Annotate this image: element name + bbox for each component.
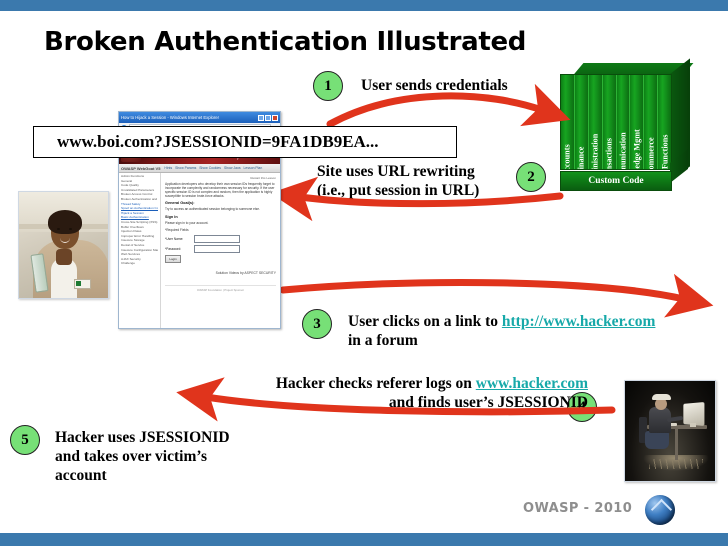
- hacker-url-link[interactable]: http://www.hacker.com: [502, 313, 656, 330]
- minimize-icon[interactable]: [258, 115, 264, 121]
- bottom-accent-bar: [0, 533, 728, 546]
- step-3-prefix: User clicks on a link to: [348, 313, 502, 330]
- aspect-security-credit: Solution Videos by ASPECT SECURITY: [165, 271, 276, 275]
- sidebar-item[interactable]: Web Services: [121, 253, 158, 257]
- user-photo-name-badge: [74, 279, 91, 289]
- url-callout-box: www.boi.com?JSESSIONID=9FA1DB9EA...: [33, 126, 457, 158]
- page-title: Broken Authentication Illustrated: [44, 27, 526, 57]
- username-label: *User Name:: [165, 237, 191, 241]
- signin-form[interactable]: Sign In Please sign in to your account. …: [165, 215, 276, 263]
- badge-logo-icon: [76, 281, 81, 286]
- step-1-text: User sends credentials: [361, 76, 508, 95]
- custom-code-bar: Custom Code: [560, 171, 672, 191]
- sidebar-item-hijack-session[interactable]: Hijack a Session: [121, 212, 158, 216]
- business-function-label: Transactions: [605, 138, 614, 169]
- slide-canvas: Broken Authentication Illustrated Accoun…: [0, 0, 728, 546]
- step-marker-5: 5: [10, 425, 40, 455]
- webgoat-nav-tabs[interactable]: Hints Show Params Show Cookies Show Java…: [164, 166, 262, 170]
- sidebar-item[interactable]: Challenge: [121, 262, 158, 266]
- hacker-photo-person-legs: [645, 431, 669, 449]
- business-function-column: Finance: [575, 75, 589, 169]
- step-3-line-2: in a forum: [348, 331, 678, 350]
- browser-window-title: How to Hijack a Session - Windows Intern…: [121, 115, 219, 120]
- window-controls[interactable]: [258, 115, 278, 121]
- business-function-column: Transactions: [603, 75, 617, 169]
- arrow-step-3: [283, 283, 684, 299]
- step-5-line-2: and takes over victim’s: [55, 447, 265, 466]
- step-marker-3: 3: [302, 309, 332, 339]
- tab-lesson-plan[interactable]: Lesson Plan: [244, 166, 263, 170]
- business-function-column: E-Commerce: [644, 75, 658, 169]
- login-button[interactable]: Login: [165, 255, 181, 263]
- business-function-label: Bus. Functions: [660, 135, 669, 169]
- hacker-domain-link[interactable]: www.hacker.com: [476, 375, 588, 392]
- hacker-photo-monitor-stand: [690, 423, 696, 427]
- business-function-column: Administration: [589, 75, 603, 169]
- hacker-photo-person-hat: [652, 394, 671, 400]
- business-function-label: Finance: [577, 147, 586, 169]
- sidebar-item[interactable]: Unvalidated Parameters: [121, 189, 158, 193]
- sidebar-item[interactable]: Denial of Service: [121, 244, 158, 248]
- user-photo-neck: [56, 249, 72, 265]
- custom-code-block: Accounts Finance Administration Transact…: [556, 63, 692, 193]
- sidebar-item[interactable]: Injection Flaws: [121, 230, 158, 234]
- tab-show-params[interactable]: Show Params: [175, 166, 196, 170]
- sidebar-item[interactable]: Insecure Storage: [121, 239, 158, 243]
- business-function-column: Bus. Functions: [658, 75, 671, 169]
- sidebar-item[interactable]: Buffer Overflows: [121, 226, 158, 230]
- owasp-footer-text: OWASP - 2010: [523, 501, 632, 516]
- hacker-photo-desk-leg: [675, 428, 678, 460]
- sidebar-item-spoof-cookie[interactable]: Spoof an Authentication Cookie: [121, 207, 158, 211]
- required-fields-note: *Required Fields: [165, 228, 276, 232]
- page-footer-note: OWASP Foundation | Project Sponsor: [165, 285, 276, 292]
- tab-show-cookies[interactable]: Show Cookies: [199, 166, 221, 170]
- restart-lesson-link[interactable]: Restart this Lesson: [165, 176, 276, 180]
- business-function-label: Administration: [591, 134, 600, 169]
- general-goal-heading: General Goal(s):: [165, 201, 276, 205]
- step-4-text: Hacker checks referer logs on www.hacker…: [228, 374, 588, 412]
- webgoat-logo: OWASP WebGoat V5: [121, 166, 160, 171]
- sidebar-item[interactable]: Admin Functions: [121, 175, 158, 179]
- user-photo: [18, 191, 109, 299]
- sidebar-item[interactable]: Code Quality: [121, 184, 158, 188]
- user-photo-eye-right: [69, 228, 72, 230]
- step-2-line-1: Site uses URL rewriting: [317, 162, 527, 181]
- sidebar-item[interactable]: General: [121, 180, 158, 184]
- sidebar-item-basic-auth[interactable]: Basic Authentication: [121, 216, 158, 220]
- sidebar-item[interactable]: AJAX Security: [121, 258, 158, 262]
- maximize-icon[interactable]: [265, 115, 271, 121]
- custom-code-block-front-face: Accounts Finance Administration Transact…: [560, 74, 672, 170]
- signin-note: Please sign in to your account.: [165, 221, 276, 225]
- sidebar-item[interactable]: Improper Error Handling: [121, 235, 158, 239]
- step-marker-1: 1: [313, 71, 343, 101]
- business-function-column: Accounts: [561, 75, 575, 169]
- business-function-label: E-Commerce: [646, 137, 655, 169]
- webgoat-navbar[interactable]: OWASP WebGoat V5 Hints Show Params Show …: [119, 164, 280, 173]
- browser-content: Admin Functions General Code Quality Unv…: [119, 173, 280, 329]
- lesson-body: Restart this Lesson Application develope…: [161, 173, 280, 329]
- lesson-sidebar[interactable]: Admin Functions General Code Quality Unv…: [119, 173, 161, 329]
- step-2-text: Site uses URL rewriting (i.e., put sessi…: [317, 162, 527, 200]
- step-4-line-2: and finds user’s JSESSIONID: [228, 393, 588, 412]
- sidebar-item[interactable]: Cross-Site Scripting (XSS): [121, 221, 158, 225]
- user-photo-eye-left: [57, 228, 60, 230]
- signin-heading: Sign In: [165, 215, 276, 219]
- owasp-globe-logo-icon: [645, 495, 675, 525]
- tab-show-java[interactable]: Show Java: [224, 166, 241, 170]
- business-function-label: Communication: [618, 132, 627, 169]
- arrow-step-1: [330, 96, 542, 124]
- sidebar-item[interactable]: Insecure Configuration Management: [121, 249, 158, 253]
- general-goal-text: Try to access an authenticated session b…: [165, 207, 276, 211]
- business-function-column: Communication: [617, 75, 631, 169]
- business-function-label: Accounts: [563, 144, 572, 169]
- sidebar-item[interactable]: Broken Authentication and Session Manage…: [121, 198, 158, 202]
- step-3-line-1: User clicks on a link to http://www.hack…: [348, 312, 678, 331]
- username-input[interactable]: [194, 235, 240, 243]
- lesson-paragraph: Application developers who develop their…: [165, 182, 276, 198]
- password-label: *Password:: [165, 247, 191, 251]
- step-3-text: User clicks on a link to http://www.hack…: [348, 312, 678, 350]
- step-4-prefix: Hacker checks referer logs on: [276, 375, 476, 392]
- username-row: *User Name:: [165, 235, 276, 243]
- password-row: *Password:: [165, 245, 276, 253]
- password-input[interactable]: [194, 245, 240, 253]
- top-accent-bar: [0, 0, 728, 11]
- step-5-line-1: Hacker uses JSESSIONID: [55, 428, 265, 447]
- browser-titlebar: How to Hijack a Session - Windows Intern…: [119, 112, 280, 123]
- step-4-line-1: Hacker checks referer logs on www.hacker…: [228, 374, 588, 393]
- sidebar-item-thread-safety[interactable]: Thread Safety: [121, 203, 158, 207]
- business-function-label: Knowledge Mgmt: [632, 129, 641, 169]
- hacker-photo: [624, 380, 716, 482]
- user-photo-hair: [48, 210, 82, 234]
- step-5-line-3: account: [55, 466, 265, 485]
- step-5-text: Hacker uses JSESSIONID and takes over vi…: [55, 428, 265, 485]
- step-2-line-2: (i.e., put session in URL): [317, 181, 527, 200]
- close-icon[interactable]: [272, 115, 278, 121]
- business-function-column: Knowledge Mgmt: [630, 75, 644, 169]
- tab-hints[interactable]: Hints: [164, 166, 172, 170]
- sidebar-item[interactable]: Broken Access Control: [121, 193, 158, 197]
